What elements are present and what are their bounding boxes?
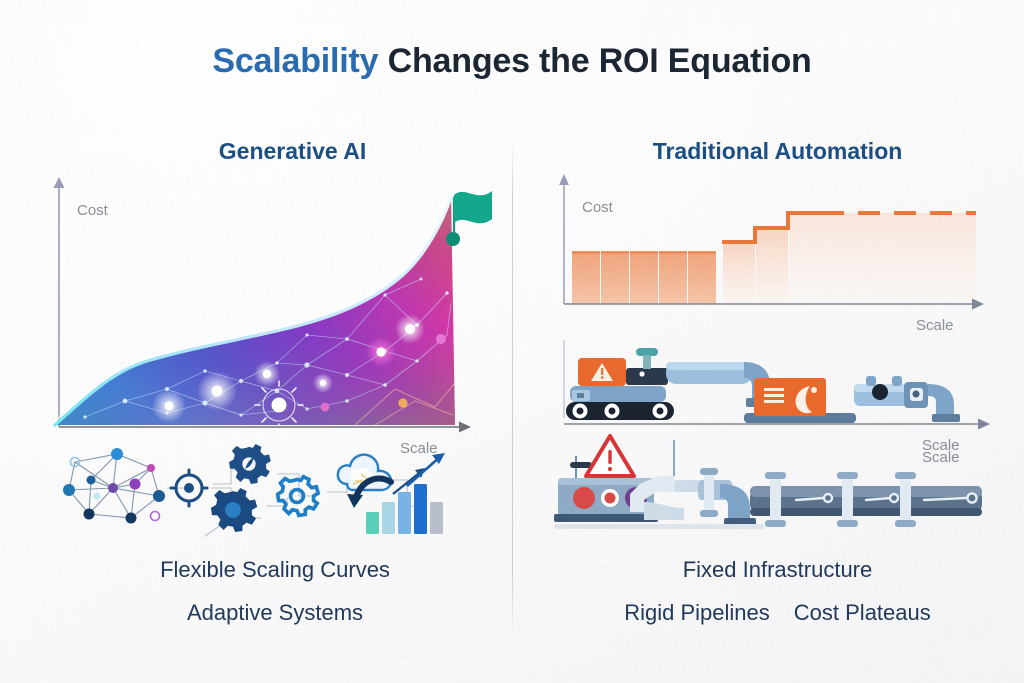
low-x-axis-label: Scale (922, 449, 960, 466)
machinery-illustration-upper: Scale (548, 340, 998, 440)
left-y-axis (54, 177, 65, 427)
caption-row-right: Rigid Pipelines Cost Plateaus (560, 600, 995, 626)
right-y-axis (559, 174, 569, 304)
pipe-assembly-icon (854, 376, 960, 422)
panel-heading-generative-ai: Generative AI (120, 138, 465, 165)
valve-pipeline-icon (698, 468, 982, 527)
traditional-automation-cost-chart: Cost Scale (560, 172, 990, 324)
ground-shadow (554, 524, 764, 529)
right-y-axis-label: Cost (582, 199, 614, 216)
pipeline-illustration-lower: Scale (548, 432, 998, 544)
caption-fixed-infrastructure: Fixed Infrastructure (560, 557, 995, 583)
caption-rigid-pipelines: Rigid Pipelines (624, 600, 770, 626)
title-rest: Changes the ROI Equation (378, 42, 811, 80)
page-title: Scalability Changes the ROI Equation (0, 42, 1024, 81)
right-chart-x-axis-label: Scale (916, 317, 954, 334)
control-box-icon (744, 378, 856, 423)
cost-curve-area (55, 194, 455, 429)
caption-flexible-scaling-curves: Flexible Scaling Curves (95, 557, 455, 583)
tracked-machine-icon (566, 348, 776, 420)
slide-canvas: Scalability Changes the ROI Equation Gen… (0, 0, 1024, 683)
flag-marker-icon (446, 191, 492, 246)
title-accent: Scalability (212, 42, 378, 80)
network-graph-icon (63, 448, 165, 524)
caption-adaptive-systems: Adaptive Systems (95, 600, 455, 626)
warning-triangle-icon (586, 436, 634, 478)
target-lens-icon (171, 470, 207, 506)
generative-ai-cost-chart: Cost Scale (55, 175, 475, 430)
left-y-axis-label: Cost (77, 202, 109, 219)
panel-divider (512, 136, 513, 636)
panel-heading-traditional-automation: Traditional Automation (560, 138, 995, 165)
caption-cost-plateaus: Cost Plateaus (794, 600, 931, 626)
cost-bars (572, 251, 716, 304)
generative-ai-icon-strip (55, 440, 465, 540)
